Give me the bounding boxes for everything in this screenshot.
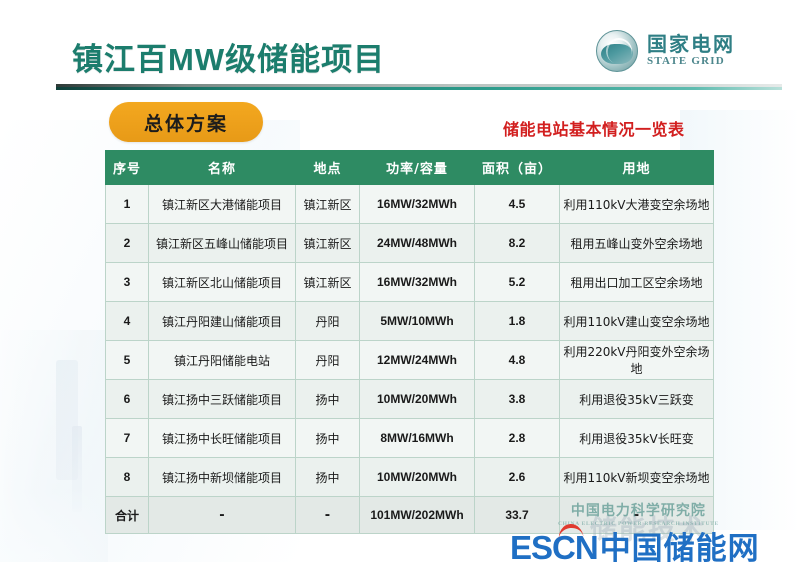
state-grid-globe-icon <box>596 30 638 72</box>
title-divider <box>56 84 782 90</box>
cell-num: 6 <box>106 380 149 419</box>
header-num: 序号 <box>106 151 149 185</box>
header-place: 地点 <box>296 151 360 185</box>
header-name: 名称 <box>149 151 296 185</box>
cell-name: 镇江丹阳储能电站 <box>149 341 296 380</box>
cell-name: 镇江新区大港储能项目 <box>149 185 296 224</box>
cell-place: 镇江新区 <box>296 263 360 302</box>
table-row: 4 镇江丹阳建山储能项目 丹阳 5MW/10MWh 1.8 利用110kV建山变… <box>106 302 714 341</box>
cell-capacity: 24MW/48MWh <box>360 224 475 263</box>
cell-capacity: 5MW/10MWh <box>360 302 475 341</box>
cell-num: 1 <box>106 185 149 224</box>
cell-capacity: 12MW/24MWh <box>360 341 475 380</box>
state-grid-logo: 国家电网 STATE GRID <box>596 30 735 72</box>
cell-area: 4.8 <box>475 341 560 380</box>
cell-place: 扬中 <box>296 380 360 419</box>
table-total-row: 合计 - - 101MW/202MWh 33.7 - <box>106 497 714 534</box>
cell-area: 3.8 <box>475 380 560 419</box>
header-land: 用地 <box>560 151 714 185</box>
table-row: 8 镇江扬中新坝储能项目 扬中 10MW/20MWh 2.6 利用110kV新坝… <box>106 458 714 497</box>
section-badge-label: 总体方案 <box>144 109 228 136</box>
cell-capacity: 10MW/20MWh <box>360 380 475 419</box>
cell-land: 租用五峰山变外空余场地 <box>560 224 714 263</box>
background-photo-watermark <box>0 330 108 562</box>
total-land: - <box>560 497 714 534</box>
cell-capacity: 10MW/20MWh <box>360 458 475 497</box>
cell-area: 8.2 <box>475 224 560 263</box>
cell-name: 镇江扬中新坝储能项目 <box>149 458 296 497</box>
header-area: 面积（亩） <box>475 151 560 185</box>
section-badge: 总体方案 <box>109 102 263 142</box>
total-label: 合计 <box>106 497 149 534</box>
table-row: 3 镇江新区北山储能项目 镇江新区 16MW/32MWh 5.2 租用出口加工区… <box>106 263 714 302</box>
cell-place: 镇江新区 <box>296 224 360 263</box>
table-row: 6 镇江扬中三跃储能项目 扬中 10MW/20MWh 3.8 利用退役35kV三… <box>106 380 714 419</box>
cell-land: 利用220kV丹阳变外空余场地 <box>560 341 714 380</box>
cell-place: 丹阳 <box>296 341 360 380</box>
header-capacity: 功率/容量 <box>360 151 475 185</box>
cell-area: 2.6 <box>475 458 560 497</box>
table-row: 7 镇江扬中长旺储能项目 扬中 8MW/16MWh 2.8 利用退役35kV长旺… <box>106 419 714 458</box>
cell-place: 扬中 <box>296 419 360 458</box>
table-caption: 储能电站基本情况一览表 <box>503 116 685 140</box>
cell-name: 镇江丹阳建山储能项目 <box>149 302 296 341</box>
cell-capacity: 16MW/32MWh <box>360 263 475 302</box>
cell-area: 5.2 <box>475 263 560 302</box>
storage-stations-table: 序号 名称 地点 功率/容量 面积（亩） 用地 1 镇江新区大港储能项目 镇江新… <box>105 150 707 534</box>
cell-area: 4.5 <box>475 185 560 224</box>
total-area-value: 33.7 <box>475 497 560 534</box>
total-name: - <box>149 497 296 534</box>
cell-land: 利用110kV大港变空余场地 <box>560 185 714 224</box>
cell-place: 丹阳 <box>296 302 360 341</box>
cell-num: 4 <box>106 302 149 341</box>
cell-land: 利用退役35kV长旺变 <box>560 419 714 458</box>
cell-land: 利用110kV建山变空余场地 <box>560 302 714 341</box>
cell-land: 租用出口加工区空余场地 <box>560 263 714 302</box>
table-row: 2 镇江新区五峰山储能项目 镇江新区 24MW/48MWh 8.2 租用五峰山变… <box>106 224 714 263</box>
cell-num: 2 <box>106 224 149 263</box>
cell-area: 2.8 <box>475 419 560 458</box>
cell-num: 8 <box>106 458 149 497</box>
cell-num: 5 <box>106 341 149 380</box>
logo-name-en: STATE GRID <box>647 55 735 68</box>
slide-canvas: 镇江百MW级储能项目 国家电网 STATE GRID 总体方案 储能电站基本情况… <box>0 0 800 562</box>
cell-capacity: 16MW/32MWh <box>360 185 475 224</box>
total-place: - <box>296 497 360 534</box>
cell-capacity: 8MW/16MWh <box>360 419 475 458</box>
logo-name-cn: 国家电网 <box>647 34 735 55</box>
total-capacity-value: 101MW/202MWh <box>360 497 475 534</box>
cell-land: 利用退役35kV三跃变 <box>560 380 714 419</box>
cell-place: 镇江新区 <box>296 185 360 224</box>
table-row: 5 镇江丹阳储能电站 丹阳 12MW/24MWh 4.8 利用220kV丹阳变外… <box>106 341 714 380</box>
cell-place: 扬中 <box>296 458 360 497</box>
table-row: 1 镇江新区大港储能项目 镇江新区 16MW/32MWh 4.5 利用110kV… <box>106 185 714 224</box>
cell-name: 镇江扬中长旺储能项目 <box>149 419 296 458</box>
cell-name: 镇江扬中三跃储能项目 <box>149 380 296 419</box>
page-title: 镇江百MW级储能项目 <box>72 34 385 79</box>
table-header-row: 序号 名称 地点 功率/容量 面积（亩） 用地 <box>106 151 714 185</box>
cell-name: 镇江新区五峰山储能项目 <box>149 224 296 263</box>
cell-area: 1.8 <box>475 302 560 341</box>
cell-land: 利用110kV新坝变空余场地 <box>560 458 714 497</box>
cell-num: 7 <box>106 419 149 458</box>
cell-name: 镇江新区北山储能项目 <box>149 263 296 302</box>
cell-num: 3 <box>106 263 149 302</box>
